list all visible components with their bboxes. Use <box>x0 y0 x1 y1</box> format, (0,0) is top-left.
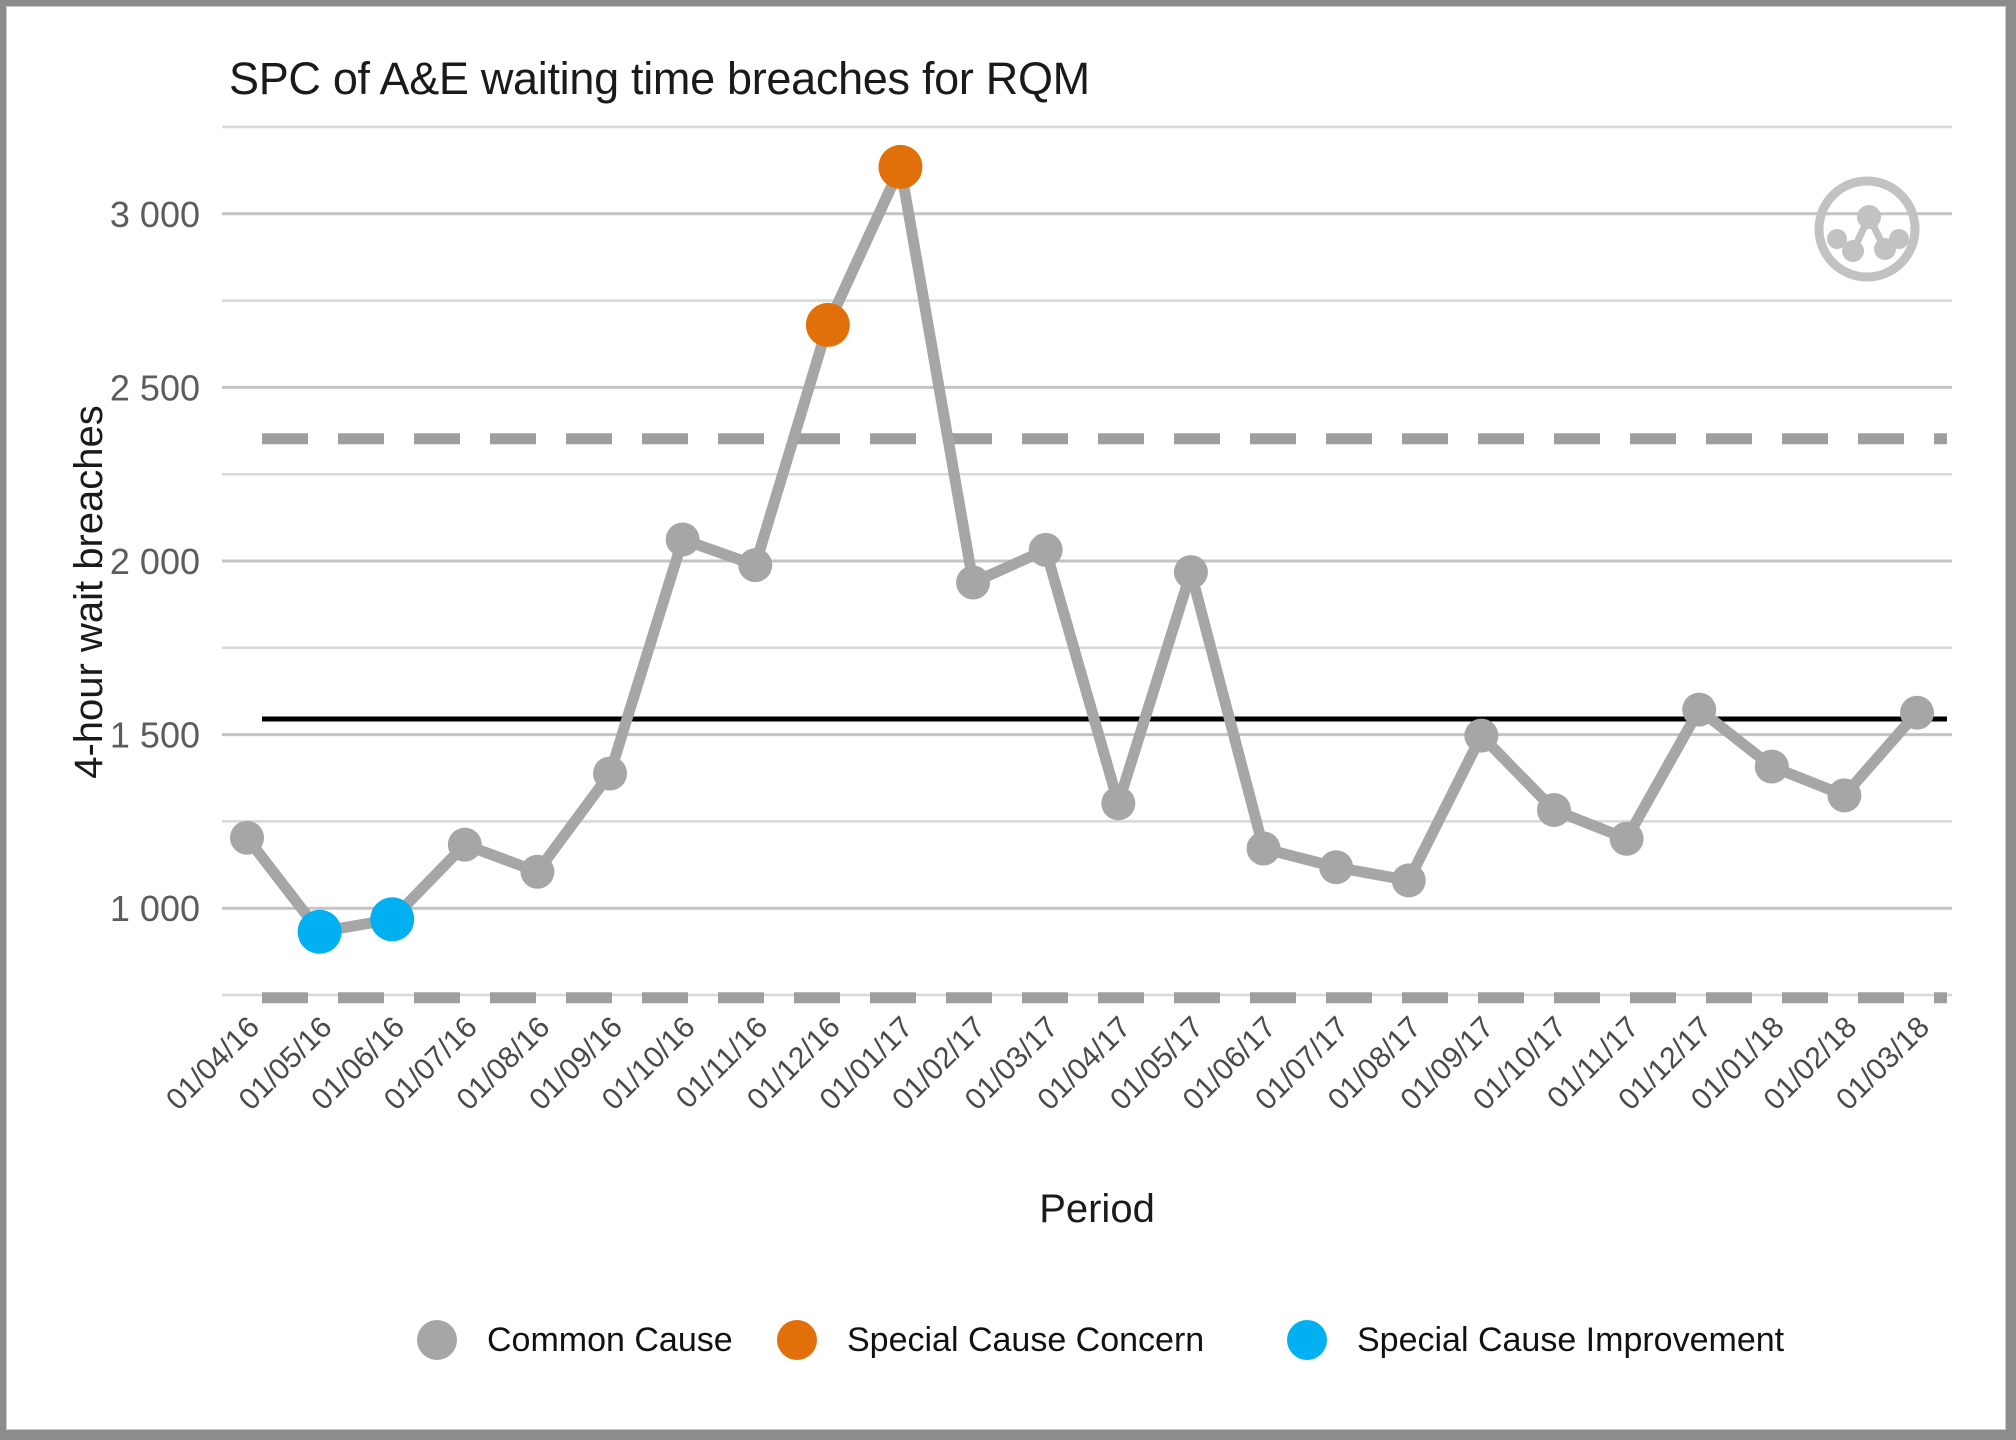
data-point-concern <box>806 303 850 347</box>
data-point-common <box>1900 696 1934 730</box>
y-tick-label: 2 000 <box>110 541 200 582</box>
data-point-common <box>738 548 772 582</box>
legend-marker-concern <box>777 1320 817 1360</box>
plot-area-wrapper: 1 0001 5002 0002 5003 000 01/04/1601/05/… <box>7 7 2007 1431</box>
data-point-common <box>1682 693 1716 727</box>
x-axis-title: Period <box>1039 1187 1155 1231</box>
y-tick-label: 1 500 <box>110 715 200 756</box>
chart-legend: Common CauseSpecial Cause ConcernSpecial… <box>417 1320 1785 1360</box>
spc-chart-svg: 1 0001 5002 0002 5003 000 01/04/1601/05/… <box>7 7 2007 1431</box>
data-point-common <box>1101 786 1135 820</box>
data-point-common <box>230 821 264 855</box>
gridlines-group <box>222 127 1952 995</box>
legend-label-improvement: Special Cause Improvement <box>1357 1321 1785 1359</box>
data-point-improvement <box>370 897 414 941</box>
data-point-common <box>1029 533 1063 567</box>
data-point-common <box>1537 793 1571 827</box>
data-point-common <box>1174 555 1208 589</box>
y-axis-title: 4-hour wait breaches <box>67 405 111 779</box>
data-point-common <box>1247 831 1281 865</box>
data-point-improvement <box>298 910 342 954</box>
run-chart-icon <box>1819 181 1915 277</box>
data-point-common <box>1827 778 1861 812</box>
data-point-common <box>1464 719 1498 753</box>
data-point-common <box>956 566 990 600</box>
data-point-common <box>1319 850 1353 884</box>
data-points-group <box>230 145 1934 954</box>
data-point-common <box>1392 863 1426 897</box>
data-point-concern <box>878 145 922 189</box>
legend-label-concern: Special Cause Concern <box>847 1321 1204 1359</box>
data-point-common <box>666 522 700 556</box>
y-tick-label: 1 000 <box>110 888 200 929</box>
legend-marker-improvement <box>1287 1320 1327 1360</box>
series-line <box>247 167 1917 932</box>
chart-canvas-frame: SPC of A&E waiting time breaches for RQM… <box>6 6 2006 1430</box>
y-tick-label: 2 500 <box>110 367 200 408</box>
y-tick-label: 3 000 <box>110 194 200 235</box>
data-point-common <box>593 756 627 790</box>
legend-marker-common <box>417 1320 457 1360</box>
data-point-common <box>520 855 554 889</box>
data-point-common <box>448 828 482 862</box>
x-tick-labels-group: 01/04/1601/05/1601/06/1601/07/1601/08/16… <box>160 1011 1936 1117</box>
legend-label-common: Common Cause <box>487 1321 733 1359</box>
y-tick-labels-group: 1 0001 5002 0002 5003 000 <box>110 194 200 929</box>
data-point-common <box>1610 822 1644 856</box>
data-point-common <box>1755 750 1789 784</box>
